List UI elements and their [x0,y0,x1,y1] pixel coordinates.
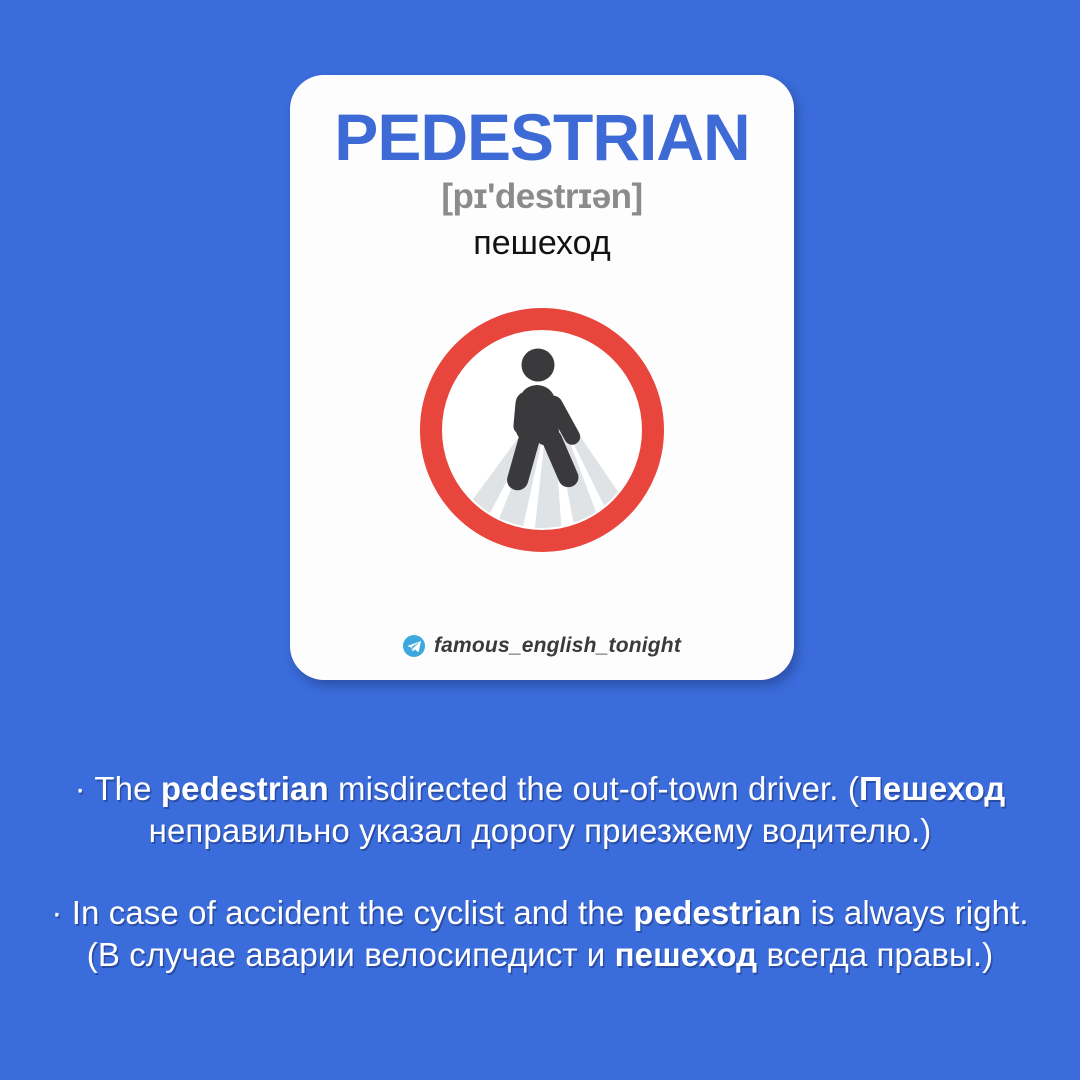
sentence-text: In case of accident the cyclist and the [63,894,634,931]
telegram-handle-text: famous_english_tonight [434,634,681,658]
keyword: Пешеход [859,770,1005,807]
pedestrian-crossing-sign [416,304,668,556]
ipa-transcription: [pɪ'destrɪən] [441,178,642,217]
sentence-text: неправильно указал дорогу приезжему води… [149,812,932,849]
translation: пешеход [473,225,610,262]
sentence-text: всегда правы.) [757,936,993,973]
headword: PEDESTRIAN [334,103,749,172]
sentence-text: The [86,770,161,807]
vocabulary-card: PEDESTRIAN [pɪ'destrɪən] пешеход [290,75,794,680]
telegram-handle[interactable]: famous_english_tonight [290,634,794,658]
example-sentence: · The pedestrian misdirected the out-of-… [40,768,1040,852]
keyword: пешеход [615,936,758,973]
keyword: pedestrian [633,894,801,931]
sentence-text: misdirected the out-of-town driver. ( [329,770,859,807]
bullet-marker: · [51,894,62,931]
keyword: pedestrian [161,770,329,807]
telegram-icon [403,635,425,657]
example-sentence: · In case of accident the cyclist and th… [40,892,1040,976]
bullet-marker: · [75,770,86,807]
example-sentences: · The pedestrian misdirected the out-of-… [0,768,1080,976]
